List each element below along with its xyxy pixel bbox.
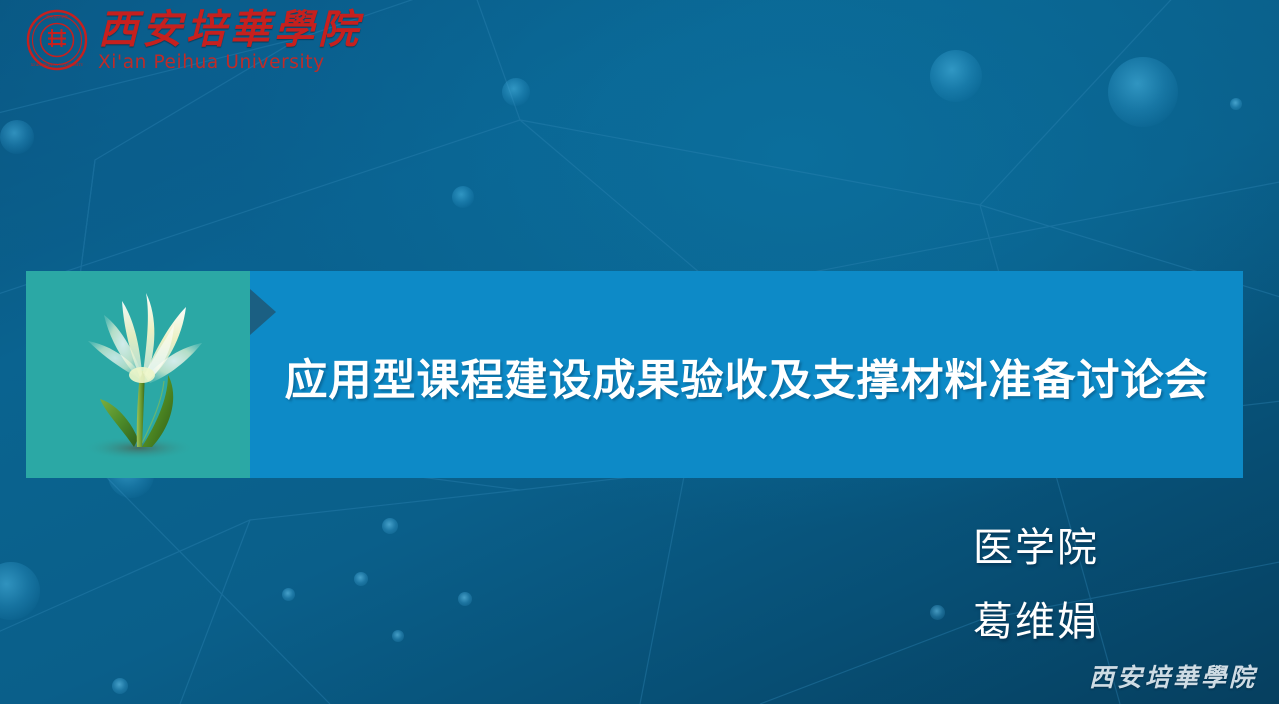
chevron-right-icon [250,289,276,335]
svg-text:XI'AN PEIHUA UNIVERSITY: XI'AN PEIHUA UNIVERSITY [31,63,84,67]
bokeh-glow [112,678,128,694]
flower-image-box [26,271,250,478]
bokeh-glow [392,630,404,642]
bokeh-glow [502,78,530,106]
corner-watermark: 西安培華學院 [1089,658,1257,694]
title-band: 应用型课程建设成果验收及支撑材料准备讨论会 [26,271,1243,478]
svg-text:西安培华学院: 西安培华学院 [46,14,68,19]
bokeh-glow [354,572,368,586]
presenter-info: 医学院 葛维娟 [973,528,1099,642]
white-flower-illustration [26,271,250,478]
bokeh-glow [930,50,982,102]
presentation-slide: 西安培华学院 XI'AN PEIHUA UNIVERSITY 西安培華學院 Xi… [0,0,1279,704]
bokeh-glow [0,562,40,620]
bokeh-glow [452,186,474,208]
university-seal-icon: 西安培华学院 XI'AN PEIHUA UNIVERSITY [26,9,88,71]
university-name-cn: 西安培華學院 [98,10,362,50]
title-banner: 应用型课程建设成果验收及支撑材料准备讨论会 [250,271,1243,478]
bokeh-glow [930,605,945,620]
presenter-name: 葛维娟 [973,602,1099,642]
bokeh-glow [458,592,472,606]
university-name-en: Xi'an Peihua University [98,54,362,73]
bokeh-glow [282,588,295,601]
university-logo: 西安培华学院 XI'AN PEIHUA UNIVERSITY 西安培華學院 Xi… [26,8,362,73]
bokeh-glow [0,120,34,154]
slide-title: 应用型课程建设成果验收及支撑材料准备讨论会 [285,346,1209,408]
bokeh-glow [1230,98,1242,110]
presenter-department: 医学院 [973,528,1099,568]
bokeh-glow [382,518,398,534]
bokeh-glow [1108,57,1178,127]
